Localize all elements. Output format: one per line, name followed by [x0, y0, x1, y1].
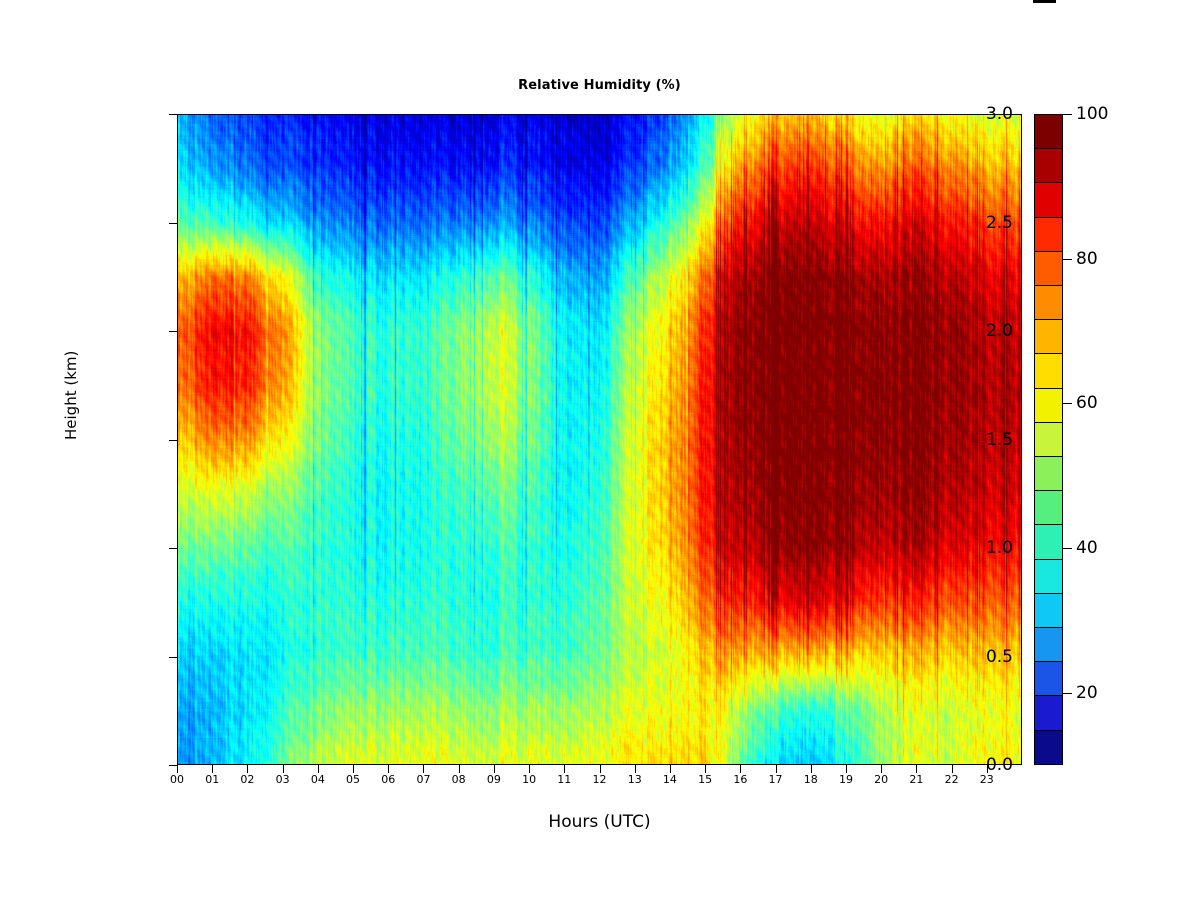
- x-tick-label: 00: [170, 773, 184, 786]
- x-tick-mark: [635, 765, 636, 773]
- colorbar-band: [1035, 423, 1062, 457]
- colorbar-band: [1035, 183, 1062, 217]
- colorbar-tick-mark: [1063, 693, 1072, 694]
- x-tick-mark: [987, 765, 988, 773]
- x-tick-mark: [529, 765, 530, 773]
- colorbar-band: [1035, 354, 1062, 388]
- x-tick-mark: [564, 765, 565, 773]
- y-tick-label: 1.0: [986, 538, 1013, 558]
- colorbar: [1034, 114, 1063, 765]
- colorbar-tick-label: 100: [1076, 104, 1108, 124]
- top-corner-rule-artifact: [1033, 0, 1056, 3]
- x-tick-label: 10: [522, 773, 536, 786]
- colorbar-band: [1035, 560, 1062, 594]
- colorbar-tick-mark: [1063, 114, 1072, 115]
- x-tick-label: 03: [276, 773, 290, 786]
- colorbar-band: [1035, 696, 1062, 730]
- x-tick-mark: [388, 765, 389, 773]
- page-title: Relative Humidity (%): [177, 78, 1022, 93]
- y-tick-mark: [169, 657, 177, 658]
- x-tick-label: 16: [733, 773, 747, 786]
- y-tick-mark: [169, 765, 177, 766]
- x-tick-label: 17: [769, 773, 783, 786]
- y-tick-label: 2.0: [986, 321, 1013, 341]
- colorbar-band: [1035, 731, 1062, 764]
- x-tick-label: 15: [698, 773, 712, 786]
- relative-humidity-time-height-figure: Relative Humidity (%) Height (km) Hours …: [0, 0, 1200, 900]
- x-tick-mark: [670, 765, 671, 773]
- colorbar-band: [1035, 320, 1062, 354]
- x-tick-label: 18: [804, 773, 818, 786]
- x-tick-mark: [881, 765, 882, 773]
- x-tick-label: 14: [663, 773, 677, 786]
- x-tick-label: 09: [487, 773, 501, 786]
- colorbar-band: [1035, 457, 1062, 491]
- x-tick-mark: [705, 765, 706, 773]
- colorbar-band: [1035, 662, 1062, 696]
- x-tick-mark: [318, 765, 319, 773]
- x-tick-mark: [283, 765, 284, 773]
- y-tick-mark: [169, 331, 177, 332]
- colorbar-band: [1035, 389, 1062, 423]
- x-tick-label: 05: [346, 773, 360, 786]
- relative-humidity-heatmap: [178, 115, 1021, 764]
- colorbar-band: [1035, 286, 1062, 320]
- x-tick-label: 23: [980, 773, 994, 786]
- y-tick-label: 2.5: [986, 213, 1013, 233]
- x-tick-label: 06: [381, 773, 395, 786]
- colorbar-band: [1035, 525, 1062, 559]
- colorbar-band: [1035, 149, 1062, 183]
- x-tick-mark: [776, 765, 777, 773]
- x-tick-label: 01: [205, 773, 219, 786]
- y-axis-label: Height (km): [62, 418, 80, 440]
- x-tick-mark: [811, 765, 812, 773]
- colorbar-tick-label: 40: [1076, 538, 1098, 558]
- x-tick-mark: [247, 765, 248, 773]
- y-tick-mark: [169, 548, 177, 549]
- x-tick-label: 08: [452, 773, 466, 786]
- x-tick-mark: [846, 765, 847, 773]
- y-tick-label: 3.0: [986, 104, 1013, 124]
- x-tick-mark: [740, 765, 741, 773]
- x-tick-label: 20: [874, 773, 888, 786]
- x-tick-label: 12: [593, 773, 607, 786]
- y-tick-mark: [169, 223, 177, 224]
- x-tick-mark: [353, 765, 354, 773]
- colorbar-band: [1035, 115, 1062, 149]
- y-tick-label: 0.5: [986, 647, 1013, 667]
- x-tick-mark: [952, 765, 953, 773]
- y-tick-mark: [169, 114, 177, 115]
- x-tick-label: 02: [240, 773, 254, 786]
- colorbar-tick-mark: [1063, 259, 1072, 260]
- colorbar-tick-mark: [1063, 403, 1072, 404]
- x-tick-label: 13: [628, 773, 642, 786]
- y-tick-label: 1.5: [986, 430, 1013, 450]
- x-tick-mark: [212, 765, 213, 773]
- colorbar-band: [1035, 594, 1062, 628]
- colorbar-band: [1035, 491, 1062, 525]
- x-tick-label: 22: [945, 773, 959, 786]
- colorbar-band: [1035, 628, 1062, 662]
- y-axis: [0, 0, 177, 900]
- x-tick-mark: [459, 765, 460, 773]
- y-tick-label: 0.0: [986, 755, 1013, 775]
- colorbar-tick-label: 20: [1076, 683, 1098, 703]
- colorbar-band: [1035, 252, 1062, 286]
- x-tick-mark: [423, 765, 424, 773]
- x-tick-label: 19: [839, 773, 853, 786]
- heatmap-plot-area: [177, 114, 1022, 765]
- colorbar-tick-label: 60: [1076, 393, 1098, 413]
- x-tick-mark: [916, 765, 917, 773]
- colorbar-band: [1035, 218, 1062, 252]
- x-axis-label: Hours (UTC): [177, 812, 1022, 832]
- x-tick-label: 04: [311, 773, 325, 786]
- x-tick-mark: [600, 765, 601, 773]
- colorbar-tick-label: 80: [1076, 249, 1098, 269]
- x-tick-label: 07: [416, 773, 430, 786]
- y-tick-mark: [169, 440, 177, 441]
- x-tick-label: 11: [557, 773, 571, 786]
- x-tick-mark: [177, 765, 178, 773]
- x-tick-mark: [494, 765, 495, 773]
- colorbar-tick-mark: [1063, 548, 1072, 549]
- x-tick-label: 21: [909, 773, 923, 786]
